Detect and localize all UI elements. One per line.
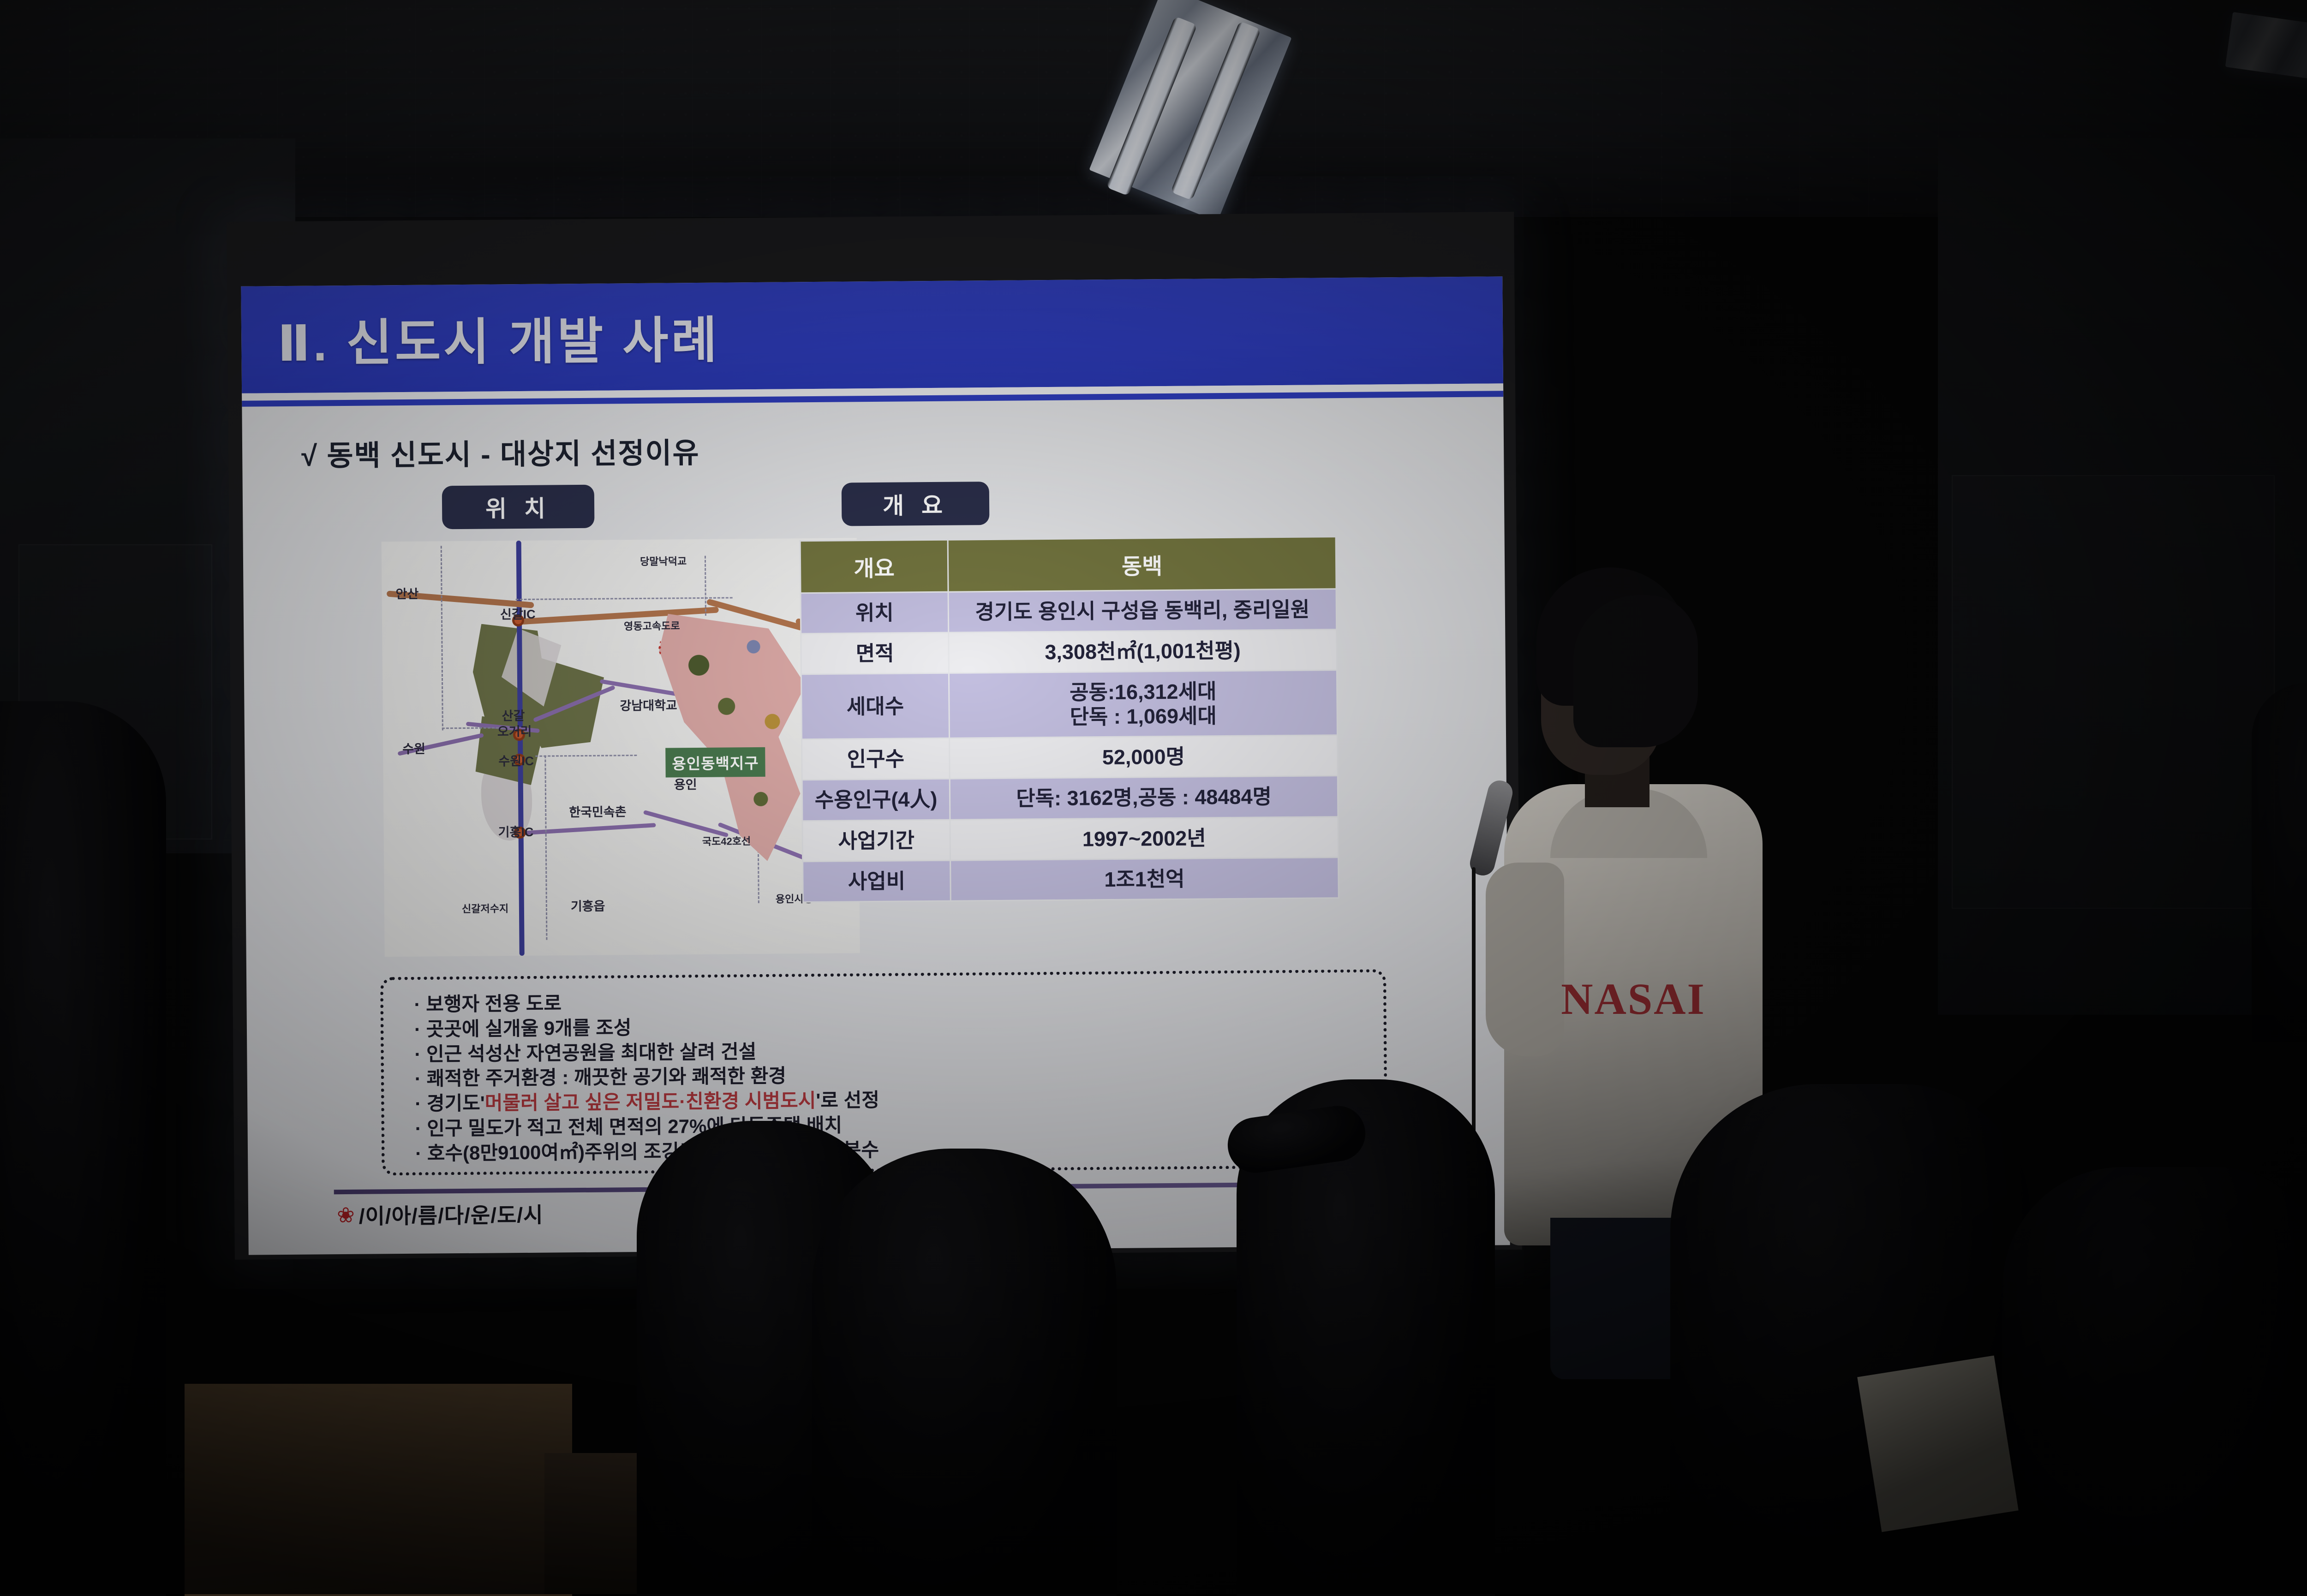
note-highlight-prefix: · 경기도' bbox=[415, 1092, 485, 1114]
footer-logo-icon: ❀ bbox=[337, 1203, 355, 1227]
table-cell-value: 단독: 3162명,공동 : 48484명 bbox=[950, 776, 1338, 820]
map-label: 신갈저수지 bbox=[462, 900, 508, 916]
audience-person-edge-right bbox=[2252, 683, 2307, 1042]
map-label: 오거리 bbox=[497, 721, 532, 740]
table-cell-label: 면적 bbox=[801, 632, 949, 674]
slide-subtitle: √ 동백 신도시 - 대상지 선정이유 bbox=[301, 429, 700, 474]
map-label: 수원 bbox=[402, 739, 425, 757]
table-cell-label: 위치 bbox=[801, 592, 949, 634]
audience-person-right bbox=[1670, 1084, 2030, 1596]
map-label: 용인 bbox=[674, 774, 697, 792]
table-cell-label: 세대수 bbox=[801, 673, 949, 739]
table-col-header-category: 개요 bbox=[800, 540, 948, 593]
section-badge-location: 위 치 bbox=[442, 485, 595, 530]
lecture-room: Ⅱ. 신도시 개발 사례 √ 동백 신도시 - 대상지 선정이유 위 치 개 요 bbox=[0, 0, 2307, 1594]
table-row: 인구수52,000명 bbox=[802, 735, 1338, 780]
map-boundary-dash-5 bbox=[535, 755, 637, 757]
map-label: 강남대학교 bbox=[620, 695, 677, 714]
table-header-row: 개요 동백 bbox=[800, 537, 1336, 593]
table-row: 세대수공동:16,312세대단독 : 1,069세대 bbox=[801, 670, 1337, 739]
audience-person-far-left bbox=[0, 701, 166, 1596]
map-boundary-dash-6 bbox=[705, 556, 706, 616]
presenter-arm bbox=[1486, 863, 1564, 1056]
table-row: 면적3,308천㎡(1,001천평) bbox=[801, 630, 1337, 674]
table-cell-value: 52,000명 bbox=[950, 735, 1338, 779]
table-cell-value: 1997~2002년 bbox=[950, 816, 1339, 860]
table-row: 위치경기도 용인시 구성읍 동백리, 중리일원 bbox=[801, 589, 1337, 634]
desk-left bbox=[185, 1384, 572, 1596]
map-boundary-dash-1 bbox=[441, 546, 443, 730]
map-boundary-dash-3 bbox=[516, 597, 733, 600]
slide-header-bar: Ⅱ. 신도시 개발 사례 bbox=[241, 276, 1503, 393]
table-cell-value: 공동:16,312세대단독 : 1,069세대 bbox=[949, 670, 1337, 738]
table-cell-label: 사업비 bbox=[803, 860, 951, 902]
table-row: 사업비1조1천억 bbox=[803, 857, 1339, 902]
map-label: 한국민속촌 bbox=[569, 802, 627, 820]
footer: ❀ /이/아/름/다/운/도/시 bbox=[337, 1198, 544, 1231]
table-cell-label: 수용인구(4人) bbox=[802, 779, 950, 821]
location-map: 용인동백지구 안산 bbox=[382, 538, 860, 957]
table-cell-value: 경기도 용인시 구성읍 동백리, 중리일원 bbox=[948, 589, 1337, 633]
map-label: 기흥IC bbox=[498, 822, 533, 840]
table-col-header-dongbaek: 동백 bbox=[948, 537, 1336, 592]
note-highlight-red: 머물러 살고 싶은 저밀도·친환경 시범도시 bbox=[485, 1090, 816, 1114]
map-zone-label: 용인동백지구 bbox=[665, 747, 765, 778]
presenter-hair-back bbox=[1573, 595, 1698, 747]
wall-panel-right bbox=[1952, 475, 2275, 909]
map-label: 신갈IC bbox=[500, 604, 536, 623]
map-road-purple-6 bbox=[522, 823, 656, 835]
table-cell-value: 1조1천억 bbox=[950, 857, 1339, 901]
map-label: 영동고속도로 bbox=[624, 618, 680, 633]
note-highlight-suffix: '로 선정 bbox=[816, 1089, 879, 1111]
summary-table: 개요 동백 위치경기도 용인시 구성읍 동백리, 중리일원면적3,308천㎡(1… bbox=[800, 536, 1339, 903]
table-cell-label: 인구수 bbox=[802, 738, 950, 780]
map-label: 기흥읍 bbox=[571, 896, 605, 915]
map-label: 수원IC bbox=[498, 751, 534, 769]
map-label: 국도42호선 bbox=[702, 833, 751, 848]
microphone-cord bbox=[1472, 867, 1476, 1153]
table-row: 사업기간1997~2002년 bbox=[802, 816, 1339, 861]
section-badge-summary: 개 요 bbox=[842, 482, 990, 526]
audience-person-center bbox=[812, 1149, 1117, 1596]
audience-person-far-right bbox=[2002, 1167, 2307, 1596]
map-boundary-dash-4 bbox=[544, 756, 547, 940]
footer-text: /이/아/름/다/운/도/시 bbox=[359, 1198, 543, 1230]
table-row: 수용인구(4人)단독: 3162명,공동 : 48484명 bbox=[802, 776, 1338, 821]
handout-paper bbox=[1857, 1356, 2018, 1532]
table-cell-label: 사업기간 bbox=[802, 820, 950, 862]
table-cell-value: 3,308천㎡(1,001천평) bbox=[949, 630, 1337, 673]
hoodie-logo-text: NASAI bbox=[1541, 973, 1726, 1024]
map-label: 당말낙덕교 bbox=[640, 553, 687, 568]
map-label: 안산 bbox=[395, 584, 418, 602]
slide-title: Ⅱ. 신도시 개발 사례 bbox=[277, 300, 720, 376]
